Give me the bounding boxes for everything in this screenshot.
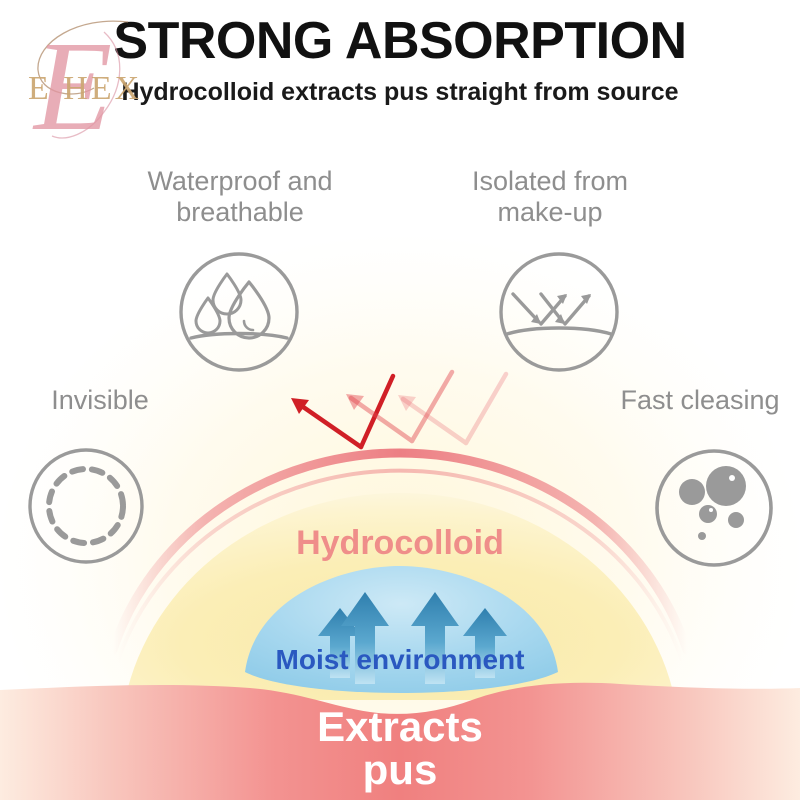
feature-label-line1: Waterproof and [90, 166, 390, 197]
banner-line1: Extracts [0, 706, 800, 749]
page-title: STRONG ABSORPTION [0, 14, 800, 69]
feature-label-line2: breathable [90, 197, 390, 228]
feature-label-line1: Isolated from [420, 166, 680, 197]
banner-line2: pus [0, 749, 800, 792]
page-subtitle: Hydrocolloid extracts pus straight from … [0, 78, 800, 107]
infographic-canvas: STRONG ABSORPTION Hydrocolloid extracts … [0, 0, 800, 800]
water-droplets-icon [175, 248, 303, 381]
feature-label-line1: Fast cleasing [600, 385, 800, 416]
deflect-arrows-icon [495, 248, 623, 381]
feature-label-waterproof: Waterproof and breathable [90, 166, 390, 229]
feature-label-line2: make-up [420, 197, 680, 228]
feature-label-isolated: Isolated from make-up [420, 166, 680, 229]
feature-label-invisible: Invisible [0, 385, 200, 416]
moist-environment-label: Moist environment [0, 644, 800, 676]
hydrocolloid-label: Hydrocolloid [0, 524, 800, 563]
feature-label-fast-cleansing: Fast cleasing [600, 385, 800, 416]
feature-label-line1: Invisible [0, 385, 200, 416]
header: STRONG ABSORPTION Hydrocolloid extracts … [0, 0, 800, 120]
banner-text: Extracts pus [0, 706, 800, 792]
